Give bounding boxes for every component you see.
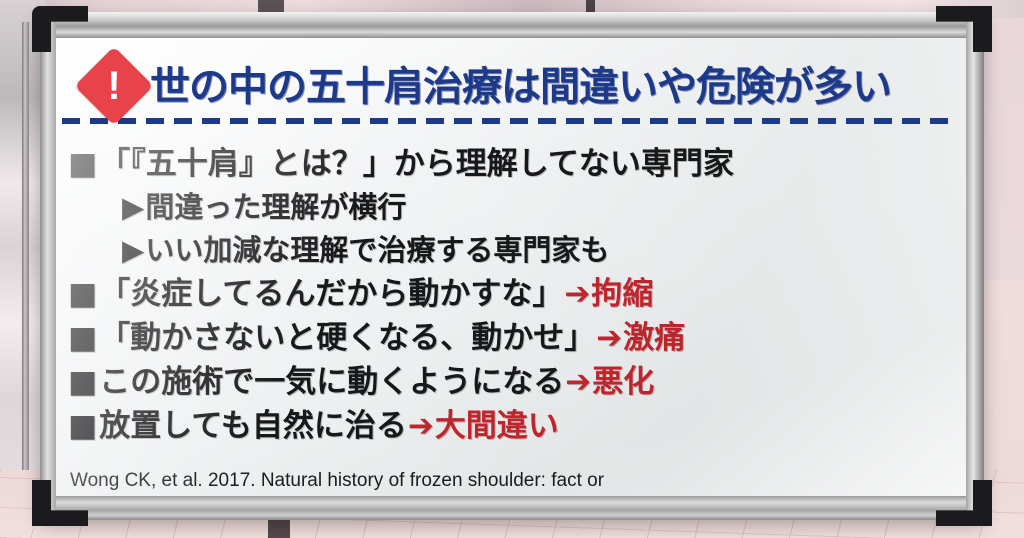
triangle-bullet-icon: ▶	[122, 229, 144, 272]
whiteboard-frame-top	[40, 12, 984, 38]
exclamation-icon: !	[86, 58, 142, 114]
citation-line-2: fiction? Syst Rev. Shoulder Elbow.	[70, 494, 926, 496]
right-arrow-icon: ➔	[407, 404, 435, 448]
right-arrow-icon: ➔	[595, 316, 623, 360]
list-item: ■ 「動かさないと硬くなる、動かせ」 ➔ 激痛	[68, 316, 960, 360]
bullet-list: ■ 「『五十肩』とは？」から理解してない専門家 ▶ 間違った理解が横行 ▶ いい…	[64, 142, 960, 448]
list-item-text: この施術で一気に動くようになる	[99, 360, 564, 404]
emphasis-text: 大間違い	[435, 404, 559, 448]
right-arrow-icon: ➔	[564, 360, 592, 404]
list-item: ■ 「炎症してるんだから動かすな」 ➔ 拘縮	[68, 272, 960, 316]
citation-line-1: Wong CK, et al. 2017. Natural history of…	[70, 468, 926, 494]
square-bullet-icon: ■	[68, 316, 97, 360]
slide-content: ! 世の中の五十肩治療は間違いや危険が多い ■ 「『五十肩』とは？」から理解して…	[56, 38, 966, 496]
list-item-text: 放置しても自然に治る	[99, 404, 407, 448]
list-item: ■ この施術で一気に動くようになる ➔ 悪化	[68, 360, 960, 404]
list-item: ■ 放置しても自然に治る ➔ 大間違い	[68, 404, 960, 448]
right-arrow-icon: ➔	[563, 272, 591, 316]
list-item-text: 「『五十肩』とは？」から理解してない専門家	[99, 142, 734, 186]
title-underline-dashed	[62, 118, 956, 124]
square-bullet-icon: ■	[68, 142, 97, 186]
list-item-text: 「炎症してるんだから動かすな」	[99, 272, 563, 316]
list-item: ▶ いい加減な理解で治療する専門家も	[122, 229, 960, 272]
emphasis-text: 拘縮	[591, 272, 653, 316]
page-title: 世の中の五十肩治療は間違いや危険が多い	[150, 54, 891, 112]
triangle-bullet-icon: ▶	[122, 186, 144, 229]
whiteboard-frame-left	[40, 12, 56, 520]
citation-block: Wong CK, et al. 2017. Natural history of…	[70, 468, 926, 496]
square-bullet-icon: ■	[68, 272, 97, 316]
list-item: ▶ 間違った理解が横行	[122, 186, 960, 229]
list-item: ■ 「『五十肩』とは？」から理解してない専門家	[68, 142, 960, 186]
title-row: ! 世の中の五十肩治療は間違いや危険が多い	[62, 56, 960, 118]
list-item-text: 「動かさないと硬くなる、動かせ」	[99, 316, 595, 360]
whiteboard-frame-right	[966, 12, 984, 520]
screenshot-stage: ! 世の中の五十肩治療は間違いや危険が多い ■ 「『五十肩』とは？」から理解して…	[0, 0, 1024, 538]
list-item-text: 間違った理解が横行	[145, 186, 406, 229]
list-item-text: いい加減な理解で治療する専門家も	[145, 229, 609, 272]
board-stand-pole	[22, 22, 29, 470]
square-bullet-icon: ■	[68, 360, 97, 404]
emphasis-text: 悪化	[592, 360, 654, 404]
whiteboard-frame-bottom	[40, 496, 984, 520]
emphasis-text: 激痛	[623, 316, 685, 360]
square-bullet-icon: ■	[68, 404, 97, 448]
whiteboard-surface: ! 世の中の五十肩治療は間違いや危険が多い ■ 「『五十肩』とは？」から理解して…	[56, 38, 966, 496]
whiteboard: ! 世の中の五十肩治療は間違いや危険が多い ■ 「『五十肩』とは？」から理解して…	[40, 12, 984, 520]
ceiling-object-1	[258, 0, 284, 12]
